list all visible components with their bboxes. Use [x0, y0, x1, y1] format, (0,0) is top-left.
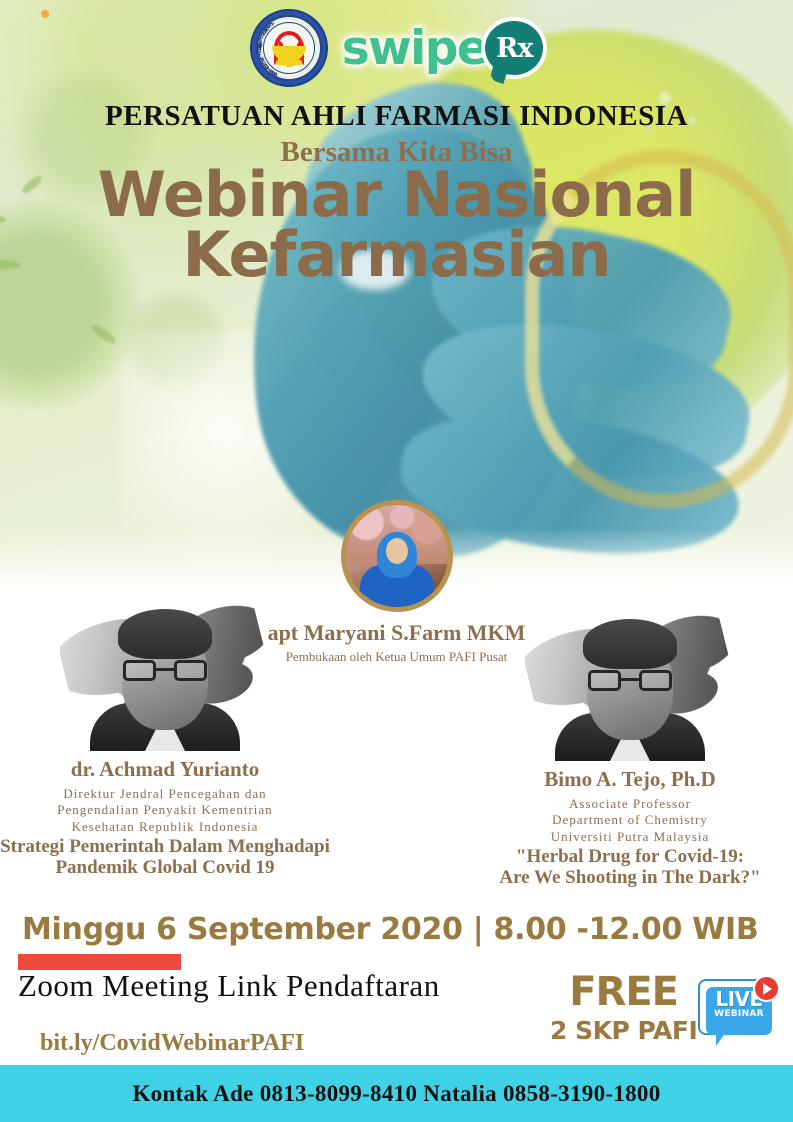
affiliation-line: Associate Professor: [465, 796, 793, 812]
affiliation-line: Universiti Putra Malaysia: [465, 829, 793, 845]
logo-row: PERSATUAN AHLI FARMASI INDONESIA* P A F …: [0, 6, 793, 90]
organization-name: PERSATUAN AHLI FARMASI INDONESIA: [0, 100, 793, 133]
swiperx-logo: swipe Rx: [342, 21, 544, 76]
live-webinar-icon: LIVE WEBINAR: [694, 975, 780, 1051]
speaker-left-topic: Strategi Pemerintah Dalam Menghadapi Pan…: [0, 837, 330, 879]
center-speaker-role: Pembukaan oleh Ketua Umum PAFI Pusat: [0, 649, 793, 665]
registration-link[interactable]: bit.ly/CovidWebinarPAFI: [40, 1030, 304, 1057]
topic-line: Strategi Pemerintah Dalam Menghadapi: [0, 837, 330, 858]
speaker-right-topic: "Herbal Drug for Covid-19: Are We Shooti…: [465, 847, 793, 889]
live-badge-tail: [716, 1032, 726, 1046]
speaker-right-name: Bimo A. Tejo, Ph.D: [465, 767, 793, 792]
pafi-ring-text: PERSATUAN AHLI FARMASI INDONESIA* P A F …: [252, 11, 326, 85]
affiliation-line: Pengendalian Penyakit Kementrian: [0, 802, 330, 818]
webinar-label: WEBINAR: [706, 1009, 772, 1019]
zoom-registration-label: Zoom Meeting Link Pendaftaran: [18, 968, 440, 1004]
speaker-left-affiliation: Direktur Jendral Pencegahan dan Pengenda…: [0, 786, 330, 835]
title-line-2: Kefarmasian: [0, 225, 793, 285]
glasses-icon: [588, 670, 672, 692]
topic-line: "Herbal Drug for Covid-19:: [465, 847, 793, 868]
page-title: Webinar Nasional Kefarmasian: [0, 165, 793, 284]
avatar-face: [386, 538, 408, 564]
free-label: FREE: [550, 972, 697, 1012]
price-badge: FREE 2 SKP PAFI: [550, 972, 697, 1045]
contact-text: Kontak Ade 0813-8099-8410 Natalia 0858-3…: [132, 1081, 660, 1107]
affiliation-line: Direktur Jendral Pencegahan dan: [0, 786, 330, 802]
rx-label: Rx: [496, 33, 533, 64]
topic-line: Are We Shooting in The Dark?": [465, 868, 793, 889]
contact-bar: Kontak Ade 0813-8099-8410 Natalia 0858-3…: [0, 1065, 793, 1122]
affiliation-line: Department of Chemistry: [465, 812, 793, 828]
swipe-dot-icon: [41, 10, 49, 18]
center-speaker: apt Maryani S.Farm MKM Pembukaan oleh Ke…: [0, 500, 793, 665]
center-speaker-avatar: [341, 500, 453, 612]
play-button-icon: [753, 975, 780, 1002]
topic-line: Pandemik Global Covid 19: [0, 858, 330, 879]
center-speaker-name: apt Maryani S.Farm MKM: [0, 620, 793, 646]
schedule-line: Minggu 6 September 2020 | 8.00 -12.00 WI…: [22, 912, 758, 947]
webinar-poster: PERSATUAN AHLI FARMASI INDONESIA* P A F …: [0, 0, 793, 1122]
pafi-logo-icon: PERSATUAN AHLI FARMASI INDONESIA* P A F …: [250, 9, 328, 87]
swipe-wordmark: swipe: [342, 21, 488, 76]
speaker-right-affiliation: Associate Professor Department of Chemis…: [465, 796, 793, 845]
speaker-left-name: dr. Achmad Yurianto: [0, 757, 330, 782]
affiliation-line: Kesehatan Republik Indonesia: [0, 819, 330, 835]
skp-credits-label: 2 SKP PAFI: [550, 1016, 697, 1045]
rx-speech-bubble-icon: Rx: [485, 21, 543, 75]
